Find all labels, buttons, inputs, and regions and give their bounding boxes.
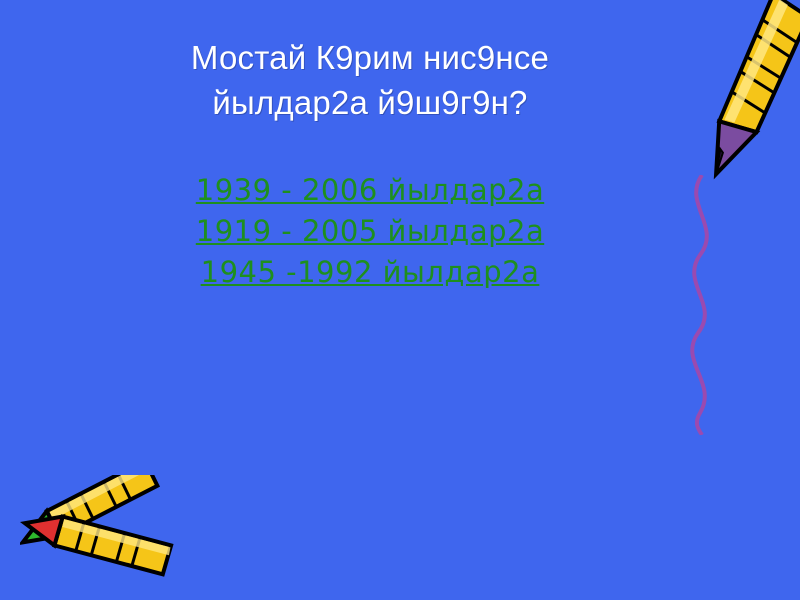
answer-list: 1939 - 2006 йылдар2а 1919 - 2005 йылдар2… bbox=[60, 170, 680, 294]
page-title: Мостай К9рим нис9нсе йылдар2а й9ш9г9н? bbox=[60, 36, 680, 125]
answer-option-3[interactable]: 1945 -1992 йылдар2а bbox=[60, 252, 680, 293]
crayon-bottom-left-icon bbox=[20, 475, 190, 595]
answer-option-1[interactable]: 1939 - 2006 йылдар2а bbox=[60, 170, 680, 211]
title-line-2: йылдар2а й9ш9г9н? bbox=[60, 81, 680, 126]
slide-canvas: Мостай К9рим нис9нсе йылдар2а й9ш9г9н? 1… bbox=[0, 0, 800, 600]
title-line-1: Мостай К9рим нис9нсе bbox=[60, 36, 680, 81]
answer-option-2[interactable]: 1919 - 2005 йылдар2а bbox=[60, 211, 680, 252]
crayon-top-right-icon bbox=[660, 0, 800, 190]
purple-squiggle-icon bbox=[672, 175, 732, 435]
